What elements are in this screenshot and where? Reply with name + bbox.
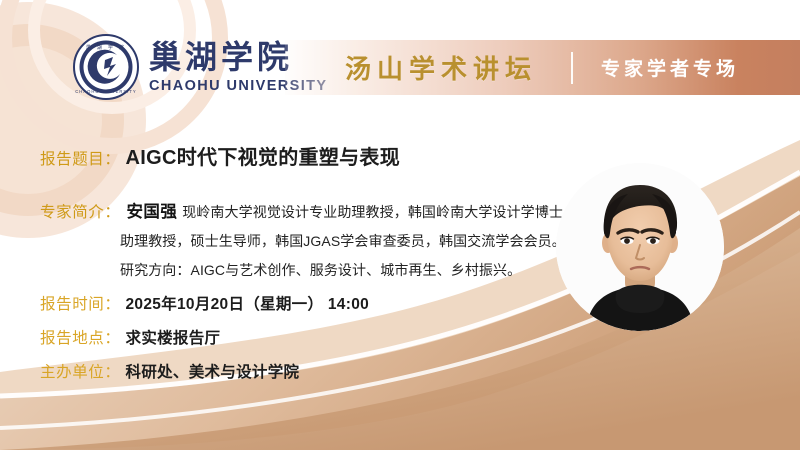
- speaker-portrait: [556, 163, 724, 331]
- field-time-label: 报告时间：: [40, 292, 121, 314]
- field-bio-label: 专家简介：: [40, 200, 121, 222]
- field-organizer-label: 主办单位：: [40, 360, 121, 382]
- field-organizer-row: 主办单位： 科研处、美术与设计学院: [40, 360, 299, 382]
- field-title-row: 报告题目： AIGC时代下视觉的重塑与表现: [40, 141, 400, 170]
- speaker-name: 安国强: [127, 198, 178, 222]
- field-place-row: 报告地点： 求实楼报告厅: [40, 326, 220, 348]
- field-place-label: 报告地点：: [40, 326, 121, 348]
- bio-line-2: 助理教授，硕士生导师，韩国JGAS学会审查委员，韩国交流学会会员。: [40, 231, 570, 251]
- field-title-label: 报告题目：: [40, 147, 121, 169]
- field-title-value: AIGC时代下视觉的重塑与表现: [126, 141, 401, 170]
- field-bio-row: 专家简介： 安国强 现岭南大学视觉设计专业助理教授，韩国岭南大学设计学博士， 助…: [40, 198, 570, 280]
- bio-text-line1: 现岭南大学视觉设计专业助理教授，韩国岭南大学设计学博士，: [182, 202, 577, 222]
- field-time-value: 2025年10月20日（星期一） 14:00: [126, 292, 370, 314]
- field-time-row: 报告时间： 2025年10月20日（星期一） 14:00: [40, 292, 369, 314]
- bio-line-3: 研究方向：AIGC与艺术创作、服务设计、城市再生、乡村振兴。: [40, 260, 570, 280]
- speaker-portrait-image: [556, 163, 724, 331]
- seminar-poster: 巢 湖 学 院 CHAOHU UNIVERSITY 巢湖学院 CHAOHU UN…: [0, 0, 800, 450]
- bio-line-1: 专家简介： 安国强 现岭南大学视觉设计专业助理教授，韩国岭南大学设计学博士，: [40, 198, 570, 222]
- field-place-value: 求实楼报告厅: [126, 326, 221, 348]
- bio-text-line2: 助理教授，硕士生导师，韩国JGAS学会审查委员，韩国交流学会会员。: [120, 231, 566, 251]
- field-organizer-value: 科研处、美术与设计学院: [126, 360, 300, 382]
- bio-text-line3: 研究方向：AIGC与艺术创作、服务设计、城市再生、乡村振兴。: [120, 260, 521, 280]
